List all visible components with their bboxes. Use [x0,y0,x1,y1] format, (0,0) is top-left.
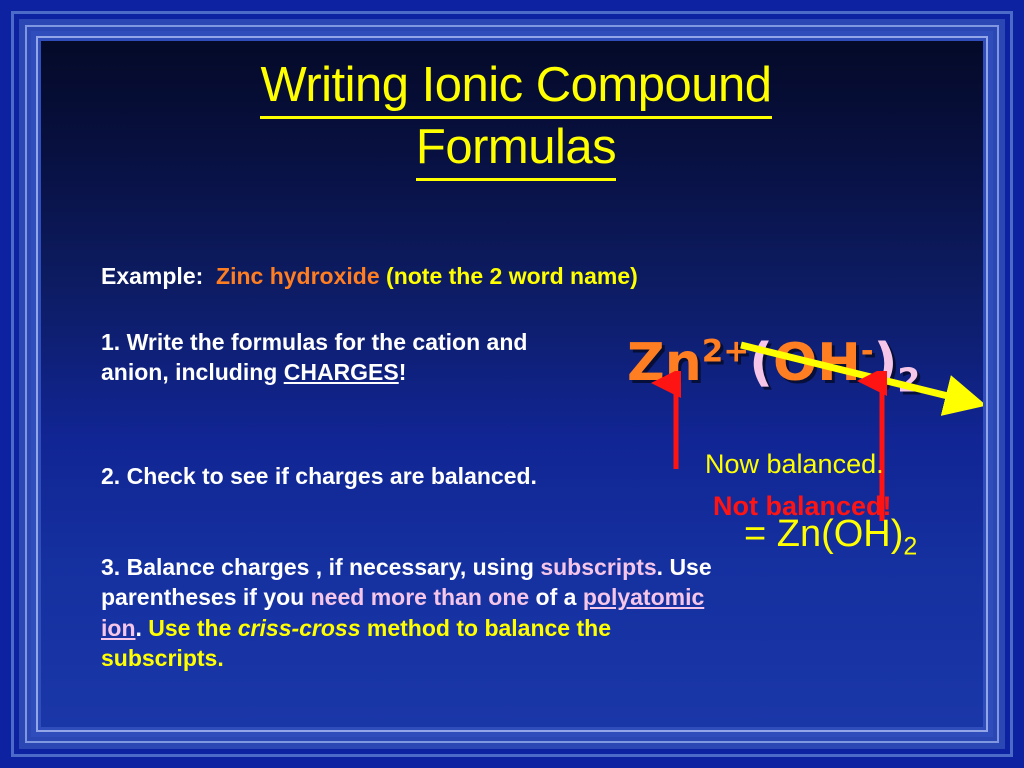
formula-anion-charge: - [861,334,874,370]
result-formula-subscript: 2 [903,533,917,561]
step-3-seg-subscripts: subscripts [540,554,656,580]
step-2-text: Check to see if charges are balanced. [120,463,537,489]
result-formula: = Zn(OH)2 [744,513,917,556]
step-3-seg-criss-cross: criss-cross [238,615,361,641]
step-3-seg-1: Balance charges , if necessary, using [120,554,540,580]
example-label: Example: [101,263,203,289]
example-compound-name: Zinc hydroxide [216,263,380,289]
step-3-number: 3. [101,554,120,580]
step-3-seg-need-more: need more than one [311,584,530,610]
example-note: (note the 2 word name) [386,263,638,289]
formula-cation-charge: 2+ [702,334,750,370]
step-3-seg-use-the: Use the [148,615,237,641]
step-2-number: 2. [101,463,120,489]
step-3-seg-7: . [136,615,149,641]
step-2: 2. Check to see if charges are balanced. [101,461,621,491]
formula-anion: OH [773,333,861,393]
step-1: 1. Write the formulas for the cation and… [101,327,591,388]
step-3-seg-5: of a [529,584,583,610]
slide-decorative-frame: Writing Ionic Compound Formulas Example:… [0,0,1024,768]
result-formula-prefix: = Zn(OH) [744,513,903,555]
ionic-formula: Zn2+(OH-)2 [627,333,920,393]
step-3: 3. Balance charges , if necessary, using… [101,552,716,673]
example-line: Example: Zinc hydroxide (note the 2 word… [101,263,638,290]
step-1-emphasis-charges: CHARGES [284,359,399,385]
formula-open-paren: ( [749,333,773,393]
formula-block: Zn2+(OH-)2 [611,333,983,443]
step-1-number: 1. [101,329,120,355]
formula-subscript: 2 [897,360,920,399]
note-now-balanced: Now balanced. [705,449,884,480]
formula-close-paren: ) [874,333,898,393]
title-line-2: Formulas [416,119,616,181]
title-line-1: Writing Ionic Compound [260,57,771,119]
step-1-text-after: ! [399,359,407,385]
slide-content-area: Writing Ionic Compound Formulas Example:… [41,41,983,727]
page-title: Writing Ionic Compound Formulas [121,57,911,181]
formula-cation: Zn [627,333,702,393]
